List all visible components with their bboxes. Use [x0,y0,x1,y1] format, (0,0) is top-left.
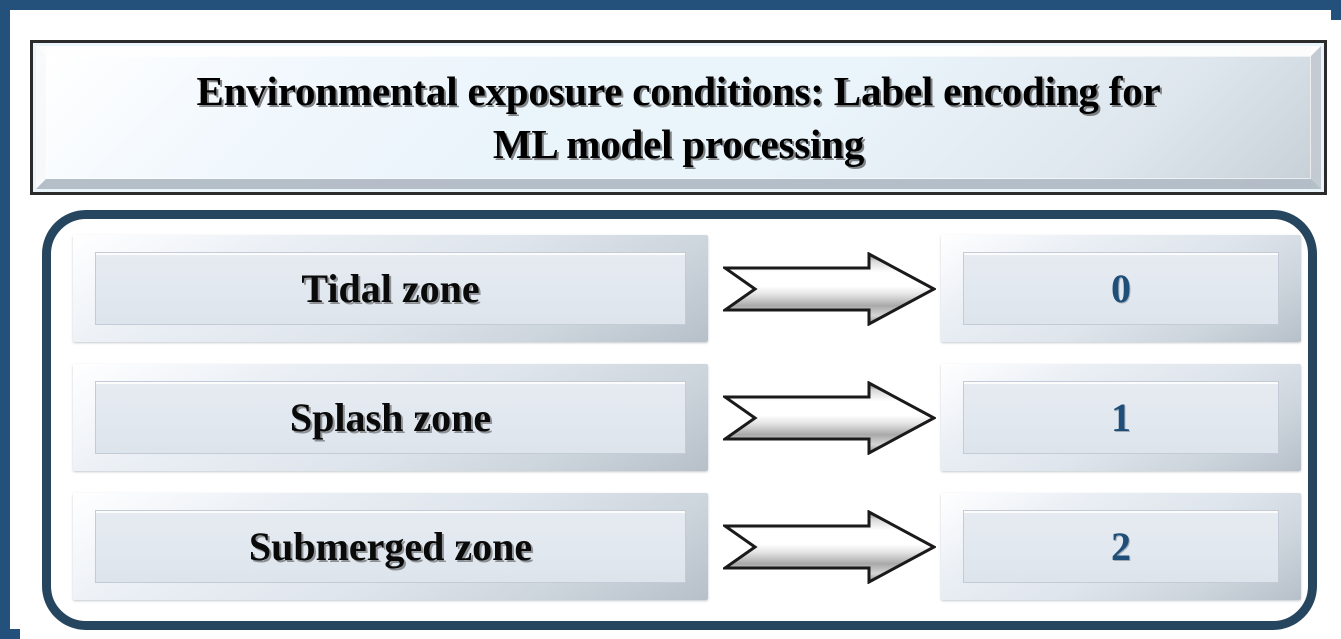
slide-outer-frame: Environmental exposure conditions: Label… [0,0,1341,639]
right-arrow-icon-svg [723,510,936,584]
table-row: Tidal zone [73,235,1301,342]
table-row: Submerged zone [73,493,1301,600]
encoded-value-2: 2 [1111,523,1131,570]
encoded-value-1: 1 [1111,394,1131,441]
right-arrow-icon-svg [723,252,936,326]
page-title-line-1: Environmental exposure conditions: Label… [197,68,1161,114]
right-arrow-icon [722,378,937,458]
title-plate: Environmental exposure conditions: Label… [30,40,1327,195]
category-label-box-0[interactable]: Tidal zone [73,235,708,342]
page-title-line-2: ML model processing [493,121,864,167]
category-label-box-1[interactable]: Splash zone [73,364,708,471]
table-row: Splash zone [73,364,1301,471]
title-bevel: Environmental exposure conditions: Label… [36,46,1321,189]
page-title: Environmental exposure conditions: Label… [179,65,1179,170]
category-label-2: Submerged zone [249,523,532,570]
category-label-box-2[interactable]: Submerged zone [73,493,708,600]
category-label-1: Splash zone [290,394,491,441]
encoded-value-0: 0 [1111,265,1131,312]
right-arrow-icon [722,507,937,587]
slide-inner-surface: Environmental exposure conditions: Label… [20,20,1341,639]
category-label-0: Tidal zone [301,265,479,312]
encoded-value-box-1[interactable]: 1 [941,364,1301,471]
encoded-value-box-2[interactable]: 2 [941,493,1301,600]
right-arrow-icon-svg [723,381,936,455]
encoded-value-box-0[interactable]: 0 [941,235,1301,342]
mapping-panel: Tidal zone [42,210,1317,630]
right-arrow-icon [722,249,937,329]
mapping-rows: Tidal zone [51,219,1308,621]
